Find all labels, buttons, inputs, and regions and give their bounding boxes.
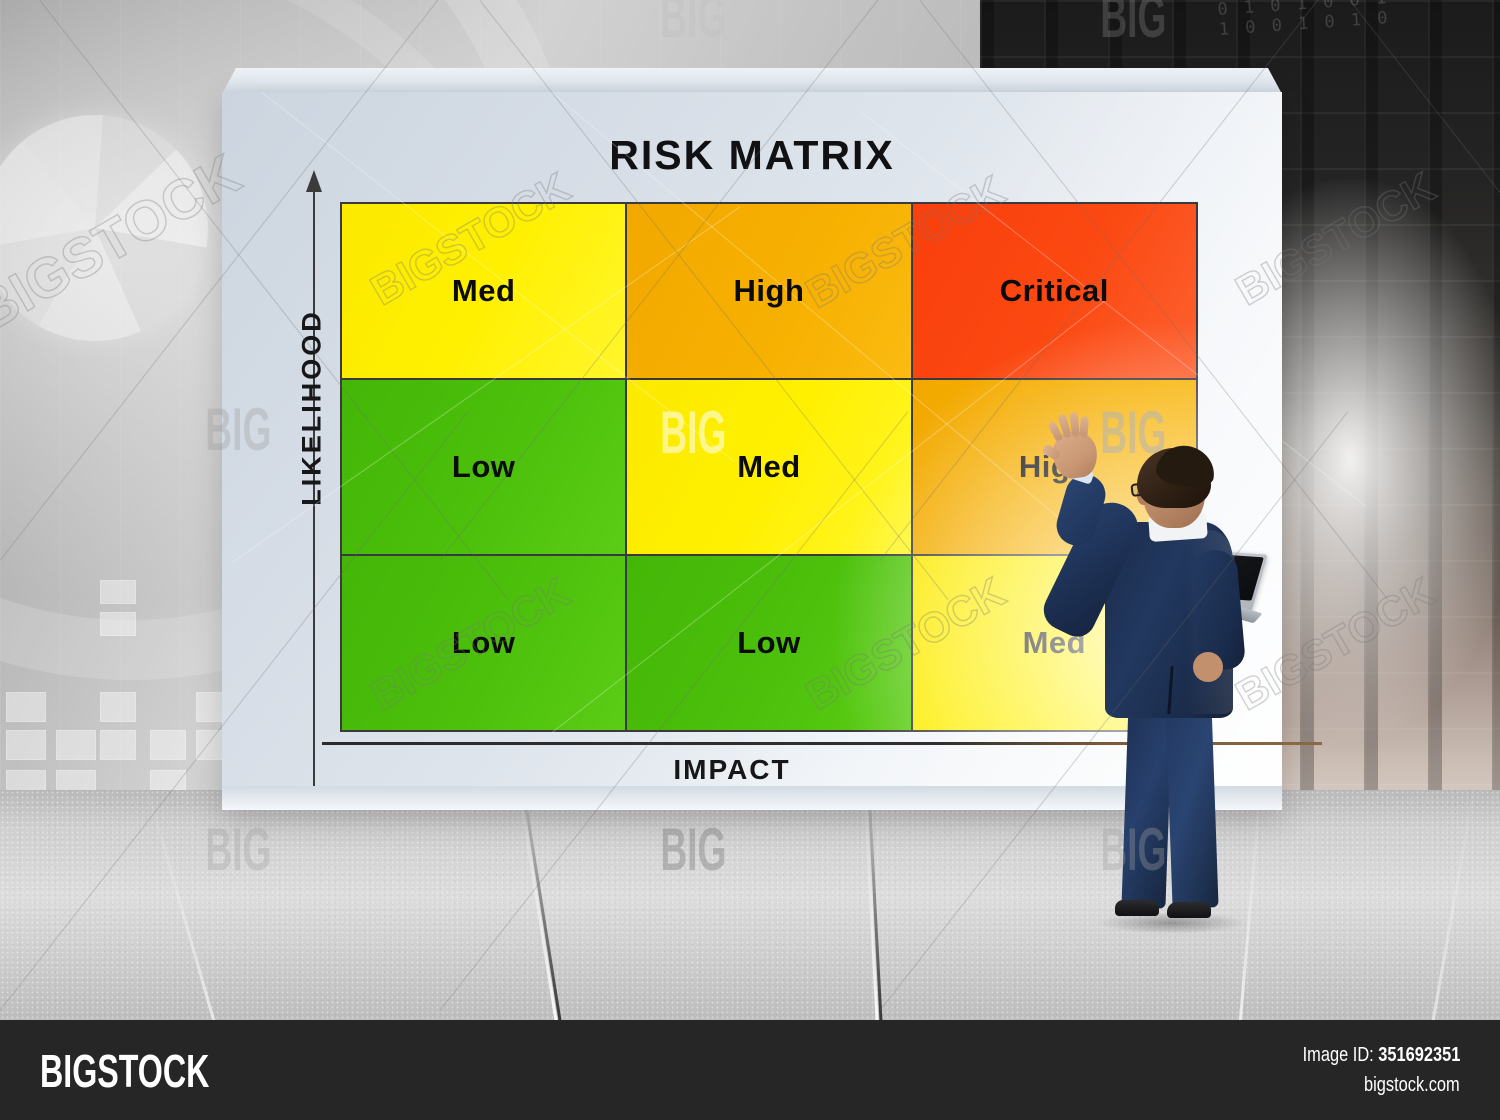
cell-label: Low [452, 625, 516, 661]
businessman-figure [1045, 430, 1295, 950]
bigstock-logo[interactable]: BIGSTOCK [40, 1044, 209, 1098]
page-title: RISK MATRIX [222, 132, 1282, 179]
cell-label: Critical [1000, 273, 1109, 309]
figure-legs [1123, 702, 1219, 912]
image-id-label: Image ID: [1302, 1044, 1373, 1066]
figure-right-shoe [1167, 902, 1211, 918]
figure-left-shoe [1115, 900, 1159, 916]
cell-label: Low [452, 449, 516, 485]
image-id-text: Image ID: 351692351 [1302, 1044, 1460, 1067]
matrix-cell-r2c0[interactable]: Low [342, 556, 625, 730]
cell-label: Med [737, 449, 801, 485]
cell-label: High [734, 273, 805, 309]
matrix-cell-r0c2[interactable]: Critical [913, 204, 1196, 378]
figure-left-leg [1121, 701, 1172, 908]
matrix-cell-r1c0[interactable]: Low [342, 380, 625, 554]
footer-bar: BIGSTOCK Image ID: 351692351 bigstock.co… [0, 1020, 1500, 1120]
matrix-cell-r2c1[interactable]: Low [627, 556, 910, 730]
matrix-cell-r0c0[interactable]: Med [342, 204, 625, 378]
board-top-bevel [222, 68, 1282, 94]
figure-right-leg [1165, 701, 1218, 908]
x-axis-label: IMPACT [322, 754, 1142, 786]
site-url[interactable]: bigstock.com [1364, 1074, 1460, 1097]
cell-label: Low [737, 625, 801, 661]
cell-label: Med [452, 273, 516, 309]
matrix-cell-r0c1[interactable]: High [627, 204, 910, 378]
matrix-cell-r1c1[interactable]: Med [627, 380, 910, 554]
figure-right-hand [1193, 652, 1223, 682]
screenshot-root: 0 1 0 1 0 0 1 1 0 0 1 0 1 0 RISK MATRIX … [0, 0, 1500, 1120]
likelihood-axis-arrow-icon [306, 170, 322, 192]
image-id-value: 351692351 [1378, 1044, 1460, 1066]
y-axis-label: LIKELIHOOD [297, 288, 328, 528]
